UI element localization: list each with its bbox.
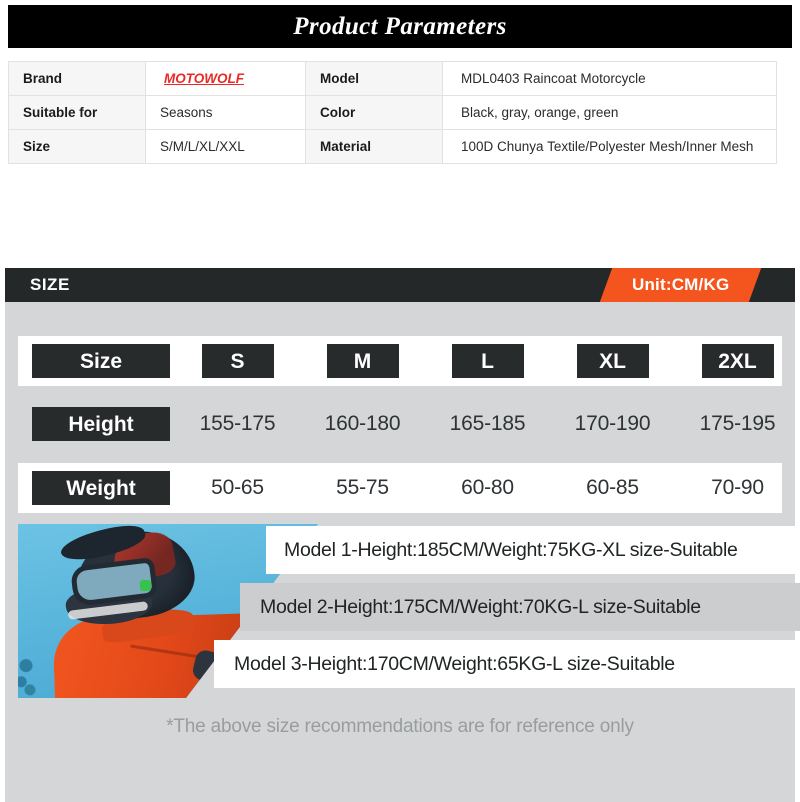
height-row-label-cell: Height [27,407,175,441]
size-chip-s: S [202,344,274,378]
table-row: Brand MOTOWOLF Model MDL0403 Raincoat Mo… [9,62,777,96]
weight-xl: 60-85 [586,476,639,499]
param-label-material: Material [306,130,443,164]
table-row: Size S/M/L/XL/XXL Material 100D Chunya T… [9,130,777,164]
size-chip-m: M [327,344,399,378]
weight-value-s: 50-65 [175,476,300,500]
param-label-model: Model [306,62,443,96]
param-label-suitable-for: Suitable for [9,96,146,130]
weight-row-label-cell: Weight [27,471,175,505]
size-chip-2xl: 2XL [702,344,774,378]
size-chart-footnote: *The above size recommendations are for … [5,716,795,738]
param-value-suitable-for: Seasons [146,96,306,130]
size-header-2xl: 2XL [675,344,800,378]
height-2xl: 175-195 [700,412,776,435]
param-value-model: MDL0403 Raincoat Motorcycle [443,62,777,96]
height-value-m: 160-180 [300,412,425,436]
weight-value-xl: 60-85 [550,476,675,500]
size-chart-header-row: Size S M L XL 2XL [18,336,782,386]
foliage-decoration [18,644,58,698]
size-chart-header-bar: SIZE Unit:CM/KG [5,268,795,302]
brand-name: MOTOWOLF [164,71,244,86]
weight-value-l: 60-80 [425,476,550,500]
model-caption-3: Model 3-Height:170CM/Weight:65KG-L size-… [214,640,800,688]
size-row-label-cell: Size [27,344,175,378]
height-value-xl: 170-190 [550,412,675,436]
size-header-s: S [175,344,300,378]
page-title: Product Parameters [293,13,506,41]
size-header-m: M [300,344,425,378]
height-row-label: Height [32,407,170,441]
size-row-label: Size [32,344,170,378]
weight-value-m: 55-75 [300,476,425,500]
unit-badge-label: Unit:CM/KG [632,275,729,295]
product-detail-page: { "parameters": { "banner_title": "Produ… [0,0,800,800]
size-chart-row-height: Height 155-175 160-180 165-185 170-190 1… [18,399,782,449]
product-parameters-banner: Product Parameters [8,5,792,48]
model-caption-3-text: Model 3-Height:170CM/Weight:65KG-L size-… [234,653,675,676]
param-value-color: Black, gray, orange, green [443,96,777,130]
weight-value-2xl: 70-90 [675,476,800,500]
unit-badge: Unit:CM/KG [599,268,761,302]
size-header-l: L [425,344,550,378]
size-header-xl: XL [550,344,675,378]
product-parameters-table: Brand MOTOWOLF Model MDL0403 Raincoat Mo… [8,61,777,164]
model-caption-1: Model 1-Height:185CM/Weight:75KG-XL size… [266,526,800,574]
size-chart-panel: Size S M L XL 2XL Height 155-175 160-180… [5,302,795,802]
weight-row-label: Weight [32,471,170,505]
param-value-size: S/M/L/XL/XXL [146,130,306,164]
param-label-size: Size [9,130,146,164]
weight-l: 60-80 [461,476,514,499]
height-m: 160-180 [325,412,401,435]
param-value-material: 100D Chunya Textile/Polyester Mesh/Inner… [443,130,777,164]
product-parameters-section: Product Parameters Brand MOTOWOLF Model … [8,5,792,164]
height-s: 155-175 [200,412,276,435]
height-l: 165-185 [450,412,526,435]
height-value-l: 165-185 [425,412,550,436]
helmet-green-accent [140,580,151,591]
size-heading: SIZE [30,268,70,302]
model-caption-2: Model 2-Height:175CM/Weight:70KG-L size-… [240,583,800,631]
height-value-2xl: 175-195 [675,412,800,436]
weight-m: 55-75 [336,476,389,499]
size-chip-xl: XL [577,344,649,378]
param-label-brand: Brand [9,62,146,96]
height-xl: 170-190 [575,412,651,435]
model-caption-1-text: Model 1-Height:185CM/Weight:75KG-XL size… [284,539,738,562]
size-chart-section: SIZE Unit:CM/KG Size S M L XL 2XL Height… [5,268,795,802]
height-value-s: 155-175 [175,412,300,436]
size-chart-row-weight: Weight 50-65 55-75 60-80 60-85 70-90 [18,463,782,513]
weight-s: 50-65 [211,476,264,499]
size-chip-l: L [452,344,524,378]
param-label-color: Color [306,96,443,130]
param-value-brand: MOTOWOLF [146,62,306,96]
weight-2xl: 70-90 [711,476,764,499]
model-reference-block: Model 1-Height:185CM/Weight:75KG-XL size… [18,524,782,698]
model-caption-2-text: Model 2-Height:175CM/Weight:70KG-L size-… [260,596,701,619]
table-row: Suitable for Seasons Color Black, gray, … [9,96,777,130]
